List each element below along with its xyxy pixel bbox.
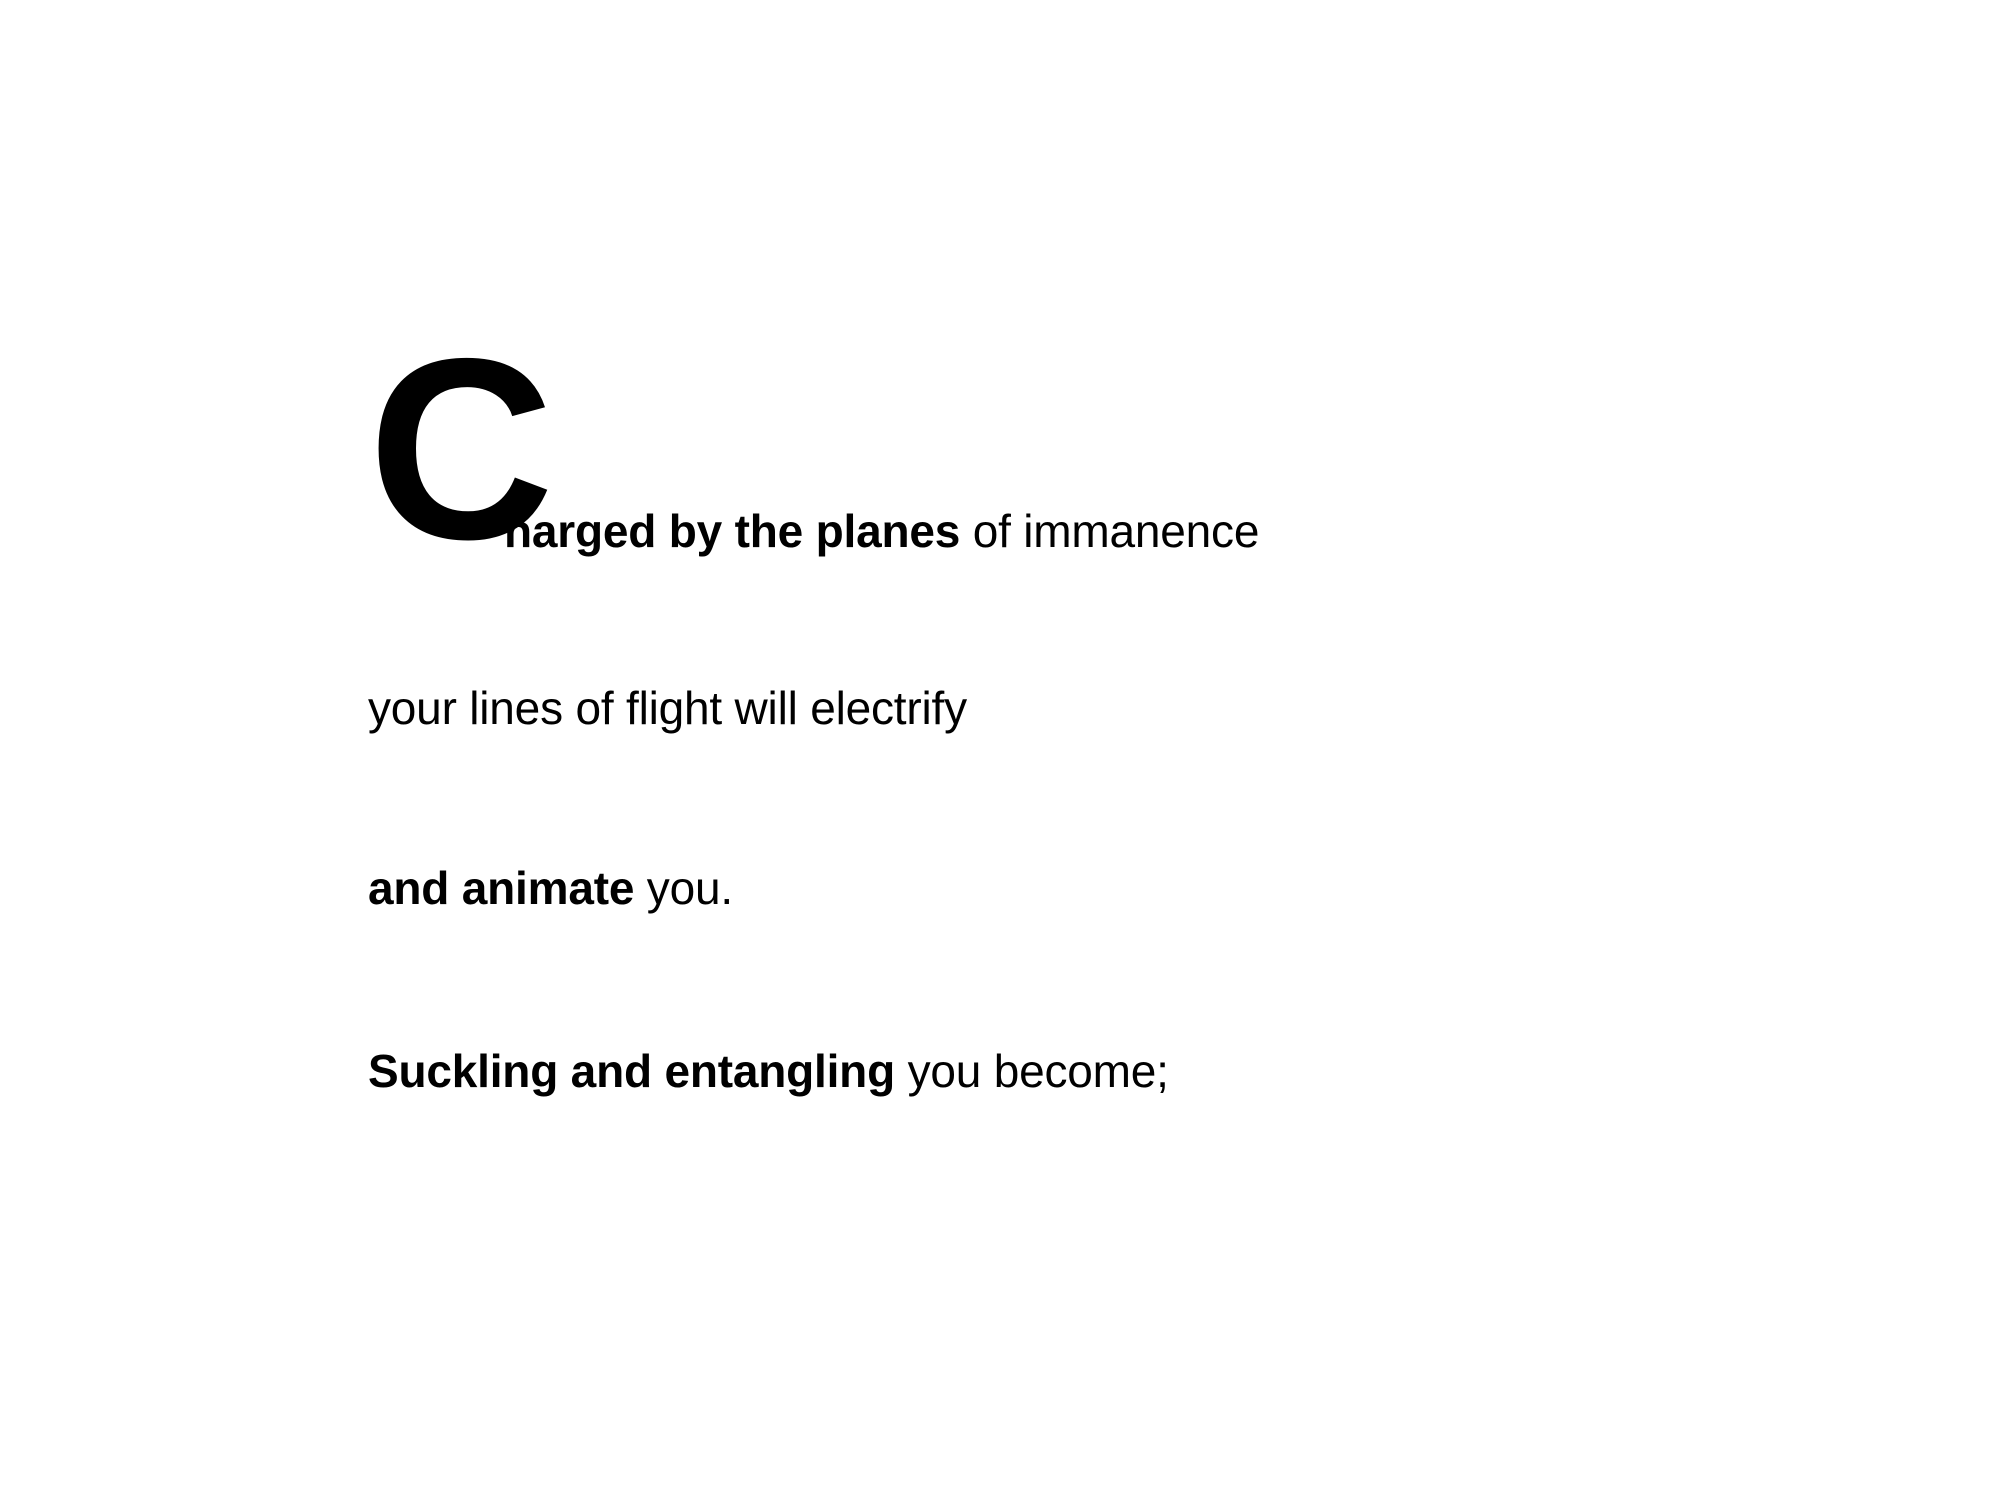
poem-line-1: C harged by the planes of immanence <box>368 360 1708 570</box>
poem-line-1-text: harged by the planes of immanence <box>504 508 1259 554</box>
poem-line-2: your lines of flight will electrify <box>368 685 967 731</box>
poem-line-4: Suckling and entangling you become; <box>368 1048 1169 1094</box>
poem-line-4-bold-run: Suckling and entangling <box>368 1045 895 1097</box>
poem-line-3: and animate you. <box>368 865 733 911</box>
poem-line-3-bold-run: and animate <box>368 862 634 914</box>
poem-line-1-regular-run: of immanence <box>960 505 1259 557</box>
poem-body: C harged by the planes of immanence your… <box>368 360 1708 570</box>
poem-line-2-regular-run: your lines of flight will electrify <box>368 682 967 734</box>
poem-line-4-regular-run: you become; <box>895 1045 1169 1097</box>
poem-line-1-bold-run: harged by the planes <box>504 505 960 557</box>
slide-page: C harged by the planes of immanence your… <box>0 0 2000 1500</box>
poem-line-3-regular-run: you. <box>634 862 733 914</box>
